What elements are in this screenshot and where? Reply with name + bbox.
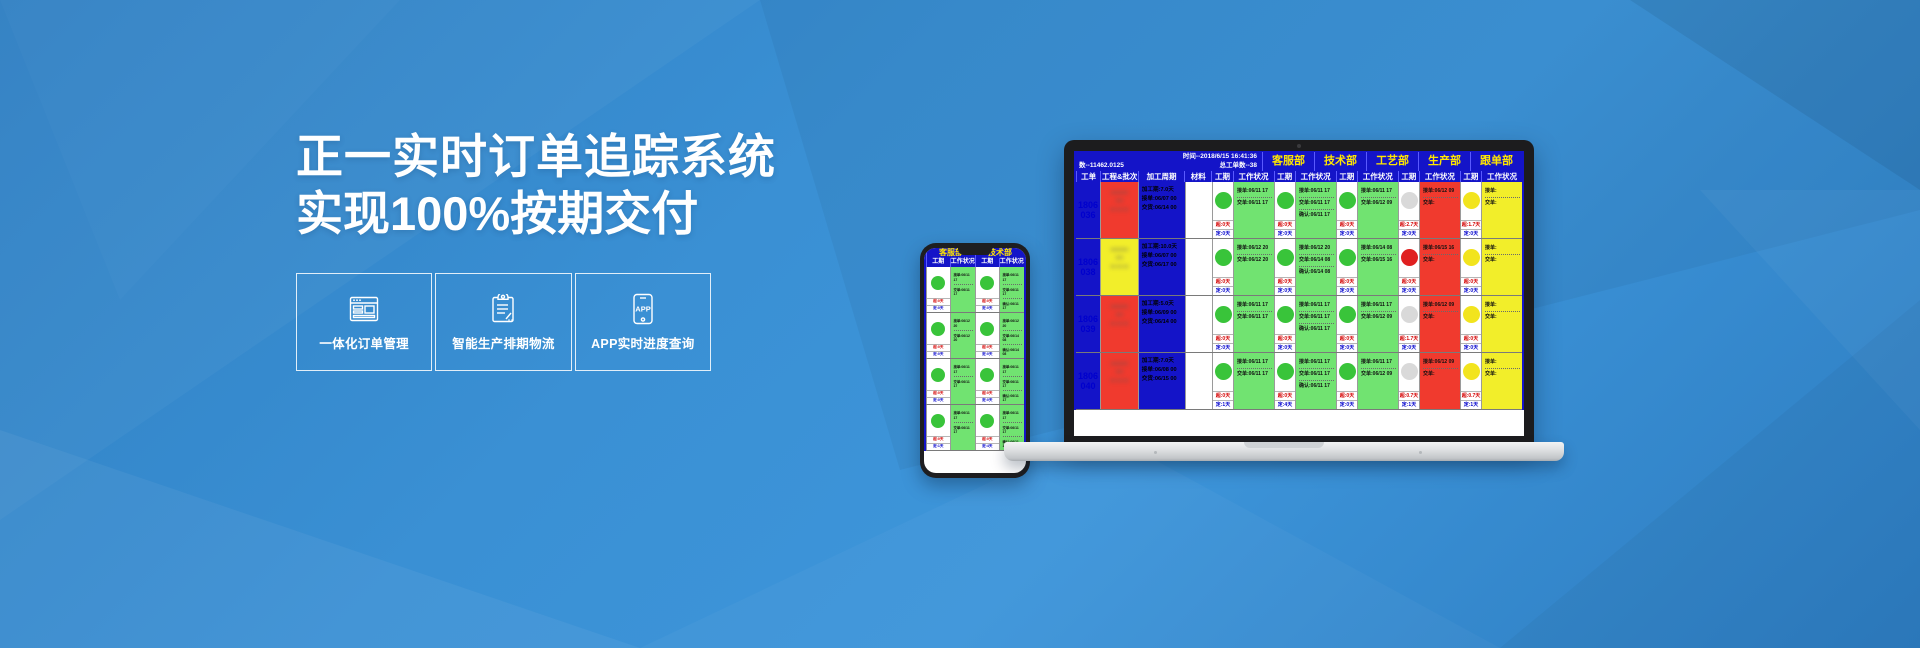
phone-notch [958, 248, 992, 255]
status-dot-icon [1401, 306, 1418, 323]
status-dot-icon [980, 368, 994, 382]
cell-duration-0[interactable]: 超:0天定:0天 [926, 313, 950, 358]
meta-total: 总工单数--38 [1219, 161, 1262, 170]
status-lines: 接单:06/15 16交单: [1420, 239, 1460, 266]
col-header-duration-3[interactable]: 工期 [1398, 171, 1419, 182]
hero-copy: 正一实时订单追踪系统 实现100%按期交付 一体化订单管理 [296, 128, 816, 371]
cell-work-order: 1806040 [1076, 353, 1100, 409]
meta-time: 时间--2018/6/15 16:41:36 [1183, 152, 1262, 161]
status-line: 接单: [1485, 357, 1520, 369]
status-line: 交单:06/11 17 [954, 285, 973, 298]
status-lines: 接单:06/12 20交单:06/12 20 [1234, 239, 1274, 266]
col-header-base-3[interactable]: 材料 [1184, 171, 1211, 182]
col-header-status-0[interactable]: 工作状况 [1233, 171, 1274, 182]
cell-project-batch: xxxxxxxxxxxx xx xx [1100, 182, 1138, 238]
status-lines: 接单:交单: [1482, 353, 1522, 380]
cell-processing-cycle: 加工期:7.0天接单:06/08 00交货:06/15 00 [1138, 353, 1185, 409]
laptop-base [1004, 442, 1564, 461]
cell-project-batch: xxxxxxxxxxxx xx xx [1100, 353, 1138, 409]
over-days-badge: 超:0天 [1213, 391, 1233, 400]
dept-header-1: 技术部 [1314, 152, 1366, 171]
status-line: 接单: [1485, 243, 1520, 255]
set-days-badge: 定:0天 [976, 397, 999, 404]
over-days-badge: 超:0天 [927, 344, 950, 351]
cell-duration-0[interactable]: 超:0天定:0天 [926, 267, 950, 312]
over-days-badge: 超:0天 [1213, 277, 1233, 286]
status-dot-icon [1401, 363, 1418, 380]
cell-work-status-4[interactable]: 接单:交单: [1481, 182, 1522, 238]
status-dot-icon [980, 276, 994, 290]
cell-work-status-3[interactable]: 接单:06/12 09交单: [1419, 353, 1460, 409]
status-line: 交单:06/11 17 [1299, 198, 1334, 210]
status-lines: 接单:06/11 17交单:06/12 09 [1358, 182, 1398, 209]
dashboard-body: 1806036xxxxxxxxxxxx xx xx加工期:7.0天接单:06/0… [1076, 182, 1522, 410]
cell-duration-4[interactable]: 超:0天定:0天 [1460, 239, 1481, 295]
status-lines: 接单:06/14 08交单:06/15 16 [1358, 239, 1398, 266]
col-header-base-2[interactable]: 加工周期 [1138, 171, 1184, 182]
project-batch-redacted: xxxxxxxxxxxx xx xx [1101, 296, 1138, 329]
set-days-badge: 定:0天 [1399, 343, 1419, 352]
over-days-badge: 超:0天 [1337, 220, 1357, 229]
status-line: 确认:06/11 17 [1299, 210, 1334, 221]
column-header-row: 工单工程&批次加工周期材料工期工作状况工期工作状况工期工作状况工期工作状况工期工… [1076, 171, 1522, 182]
status-lines: 接单:06/11 17交单:06/11 17 [951, 405, 975, 436]
status-line: 接单:06/11 17 [1237, 357, 1272, 369]
status-line: 交单:06/11 17 [1237, 312, 1272, 323]
cell-duration-0[interactable]: 超:0天定:0天 [1212, 296, 1233, 352]
cell-duration-4[interactable]: 超:0天定:0天 [1460, 296, 1481, 352]
status-line: 交单:06/11 17 [1237, 198, 1272, 209]
status-dot-icon [1215, 306, 1232, 323]
set-days-badge: 定:0天 [1275, 343, 1295, 352]
feature-list: 一体化订单管理 智能生产排期物流 [296, 273, 711, 371]
laptop-lid: 时间--2018/6/15 16:41:36数--11462.0125总工单数-… [1064, 140, 1534, 450]
headline-line-1: 正一实时订单追踪系统 [296, 128, 816, 185]
status-line: 交单:06/12 09 [1361, 312, 1396, 323]
over-days-badge: 超:0天 [976, 344, 999, 351]
cell-work-status-2[interactable]: 接单:06/14 08交单:06/15 16 [1357, 239, 1398, 295]
cell-duration-2[interactable]: 超:0天定:0天 [1336, 182, 1357, 238]
status-dot-icon [1339, 192, 1356, 209]
cell-work-status-0[interactable]: 接单:06/11 17交单:06/11 17 [950, 405, 975, 450]
project-batch-redacted: xxxxxxxxxxxx xx xx [1101, 353, 1138, 386]
window-layout-icon [349, 292, 379, 326]
cell-work-status-1[interactable]: 接单:06/11 17交单:06/11 17确认:06/11 17 [1295, 296, 1336, 352]
laptop-base-dot-left [1154, 451, 1157, 454]
dept-header-4: 跟单部 [1470, 152, 1522, 171]
cell-duration-4[interactable]: 超:1.7天定:0天 [1460, 182, 1481, 238]
cell-processing-cycle: 加工期:10.0天接单:06/07 00交货:06/17 00 [1138, 239, 1185, 295]
status-line: 交单:06/15 16 [1361, 255, 1396, 266]
col-header-duration-0[interactable]: 工期 [1211, 171, 1232, 182]
set-days-badge: 定:1天 [1461, 400, 1481, 409]
status-line: 接单:06/14 08 [1361, 243, 1396, 255]
status-line: 确认:06/11 17 [1299, 381, 1334, 392]
feature-box-order-management[interactable]: 一体化订单管理 [296, 273, 432, 371]
set-days-badge: 定:0天 [1337, 343, 1357, 352]
laptop-base-notch [1244, 442, 1324, 448]
dashboard-meta: 时间--2018/6/15 16:41:36数--11462.0125总工单数-… [1076, 152, 1262, 171]
cell-work-status-2[interactable]: 接单:06/11 17交单:06/12 09 [1357, 296, 1398, 352]
status-line: 接单:06/12 20 [1299, 243, 1334, 255]
status-dot-icon [1277, 192, 1294, 209]
cell-duration-3[interactable]: 超:1.7天定:0天 [1398, 296, 1419, 352]
cell-processing-cycle: 加工期:7.0天接单:06/07 00交货:06/14 00 [1138, 182, 1185, 238]
status-lines: 接单:06/11 17交单:06/11 17确认:06/11 17 [1296, 353, 1336, 392]
table-row[interactable]: 1806036xxxxxxxxxxxx xx xx加工期:7.0天接单:06/0… [1076, 182, 1522, 239]
status-lines: 接单:交单: [1482, 182, 1522, 209]
set-days-badge: 定:0天 [927, 397, 950, 404]
status-lines: 接单:06/12 09交单: [1420, 182, 1460, 209]
status-lines: 接单:06/12 20交单:06/12 20 [951, 313, 975, 344]
cell-duration-1[interactable]: 超:0天定:0天 [1274, 182, 1295, 238]
over-days-badge: 超:0天 [1399, 277, 1419, 286]
feature-label-production-scheduling: 智能生产排期物流 [452, 333, 554, 352]
over-days-badge: 超:0天 [976, 390, 999, 397]
dept-header-2: 工艺部 [1366, 152, 1418, 171]
cell-project-batch: xxxxxxxxxxxx xx xx [1100, 239, 1138, 295]
over-days-badge: 超:1.7天 [1461, 220, 1481, 229]
set-days-badge: 定:0天 [1275, 286, 1295, 295]
status-line: 交单:06/12 09 [1361, 198, 1396, 209]
status-dot-icon [1215, 363, 1232, 380]
cell-project-batch: xxxxxxxxxxxx xx xx [1100, 296, 1138, 352]
status-line: 接单:06/11 17 [954, 271, 973, 285]
status-line: 交单:06/12 20 [1237, 255, 1272, 266]
status-dot-icon [1215, 192, 1232, 209]
col-header-status-3[interactable]: 工作状况 [1419, 171, 1460, 182]
cell-material [1185, 296, 1212, 352]
set-days-badge: 定:4天 [976, 443, 999, 450]
status-line: 交单: [1423, 312, 1458, 323]
status-dot-icon [1339, 306, 1356, 323]
set-days-badge: 定:0天 [1213, 286, 1233, 295]
cell-material [1185, 239, 1212, 295]
status-line: 接单:06/12 20 [954, 317, 973, 331]
status-line: 确认:06/11 17 [1299, 324, 1334, 335]
status-lines: 接单:06/12 20交单:06/14 08确认:06/14 08 [1296, 239, 1336, 278]
set-days-badge: 定:0天 [1337, 229, 1357, 238]
over-days-badge: 超:0.7天 [1461, 391, 1481, 400]
cell-duration-1[interactable]: 超:0天定:0天 [1274, 239, 1295, 295]
status-line: 交单:06/11 17 [1299, 312, 1334, 324]
feature-box-app-progress[interactable]: APP APP实时进度查询 [575, 273, 711, 371]
set-days-badge: 定:0天 [1337, 286, 1357, 295]
cell-duration-1[interactable]: 超:0天定:4天 [975, 405, 999, 450]
app-badge-text: APP [635, 304, 650, 313]
cell-work-status-3[interactable]: 接单:06/12 09交单: [1419, 182, 1460, 238]
feature-box-production-scheduling[interactable]: 智能生产排期物流 [435, 273, 571, 371]
cell-work-order: 1806036 [1076, 182, 1100, 238]
status-line: 接单: [1485, 300, 1520, 312]
set-days-badge: 定:1天 [927, 443, 950, 450]
col-header-status-0[interactable]: 工作状况 [950, 258, 975, 267]
status-line: 接单:06/11 17 [1299, 186, 1334, 198]
over-days-badge: 超:0天 [927, 298, 950, 305]
over-days-badge: 超:0天 [1275, 220, 1295, 229]
cell-work-status-4[interactable]: 接单:交单: [1481, 296, 1522, 352]
over-days-badge: 超:0天 [1461, 334, 1481, 343]
feature-label-order-management: 一体化订单管理 [319, 333, 409, 352]
over-days-badge: 超:0天 [1337, 277, 1357, 286]
status-dot-icon [1463, 363, 1480, 380]
status-dot-icon [1339, 249, 1356, 266]
cell-duration-2[interactable]: 超:0天定:0天 [1336, 353, 1357, 409]
set-days-badge: 定:0天 [927, 351, 950, 358]
status-line: 交单:06/11 17 [1299, 369, 1334, 381]
status-dot-icon [1339, 363, 1356, 380]
status-dot-icon [1215, 249, 1232, 266]
over-days-badge: 超:0天 [1275, 391, 1295, 400]
over-days-badge: 超:0天 [1337, 391, 1357, 400]
status-line: 交单: [1423, 198, 1458, 209]
set-days-badge: 定:0天 [1461, 229, 1481, 238]
status-line: 接单:06/11 17 [1237, 186, 1272, 198]
over-days-badge: 超:1.7天 [1399, 334, 1419, 343]
status-line: 接单:06/12 09 [1423, 300, 1458, 312]
dept-header-0: 客服部 [1262, 152, 1314, 171]
status-line: 接单: [1485, 186, 1520, 198]
webcam-icon [1297, 144, 1301, 148]
set-days-badge: 定:0天 [1213, 343, 1233, 352]
col-header-duration-1[interactable]: 工期 [1274, 171, 1295, 182]
status-dot-icon [931, 276, 945, 290]
laptop-screen[interactable]: 时间--2018/6/15 16:41:36数--11462.0125总工单数-… [1074, 151, 1524, 436]
status-dot-icon [1277, 306, 1294, 323]
cell-duration-1[interactable]: 超:0天定:0天 [975, 359, 999, 404]
col-header-base-1[interactable]: 工程&批次 [1100, 171, 1138, 182]
status-dot-icon [980, 414, 994, 428]
status-line: 确认:06/14 08 [1299, 267, 1334, 278]
over-days-badge: 超:0天 [1213, 334, 1233, 343]
cell-duration-0[interactable]: 超:0天定:1天 [1212, 353, 1233, 409]
col-header-duration-2[interactable]: 工期 [1336, 171, 1357, 182]
set-days-badge: 定:0天 [1337, 400, 1357, 409]
cell-duration-1[interactable]: 超:0天定:4天 [1274, 353, 1295, 409]
set-days-badge: 定:1天 [1399, 400, 1419, 409]
status-line: 接单:06/11 17 [1361, 357, 1396, 369]
mobile-app-icon: APP [631, 292, 655, 326]
cell-work-status-3[interactable]: 接单:06/15 16交单: [1419, 239, 1460, 295]
status-line: 交单: [1485, 312, 1520, 323]
cell-duration-2[interactable]: 超:0天定:0天 [1336, 296, 1357, 352]
status-line: 接单:06/11 17 [954, 363, 973, 377]
over-days-badge: 超:0天 [927, 390, 950, 397]
cell-work-status-0[interactable]: 接单:06/12 20交单:06/12 20 [950, 313, 975, 358]
cell-material [1185, 182, 1212, 238]
col-header-duration-1[interactable]: 工期 [975, 258, 999, 267]
status-line: 交单: [1485, 255, 1520, 266]
status-dot-icon [1277, 363, 1294, 380]
status-line: 交单: [1485, 198, 1520, 209]
cell-work-status-0[interactable]: 接单:06/11 17交单:06/11 17 [950, 359, 975, 404]
status-line: 交单: [1423, 255, 1458, 266]
col-header-duration-4[interactable]: 工期 [1460, 171, 1481, 182]
page-title: 正一实时订单追踪系统 实现100%按期交付 [296, 128, 816, 243]
over-days-badge: 超:0天 [976, 298, 999, 305]
cell-work-order: 1806038 [1076, 239, 1100, 295]
feature-label-app-progress: APP实时进度查询 [591, 333, 694, 352]
status-dot-icon [980, 322, 994, 336]
cell-processing-cycle: 加工期:5.0天接单:06/09 00交货:06/14 00 [1138, 296, 1185, 352]
status-lines: 接单:交单: [1482, 239, 1522, 266]
status-line: 接单:06/11 17 [1237, 300, 1272, 312]
col-header-base-0[interactable]: 工单 [1076, 171, 1100, 182]
col-header-status-4[interactable]: 工作状况 [1481, 171, 1522, 182]
status-line: 交单:06/12 20 [954, 331, 973, 344]
cell-work-status-0[interactable]: 接单:06/12 20交单:06/12 20 [1233, 239, 1274, 295]
table-row[interactable]: 1806040xxxxxxxxxxxx xx xx加工期:7.0天接单:06/0… [1076, 353, 1522, 410]
col-header-duration-0[interactable]: 工期 [926, 258, 950, 267]
set-days-badge: 定:4天 [1275, 400, 1295, 409]
cell-duration-0[interactable]: 超:0天定:0天 [1212, 239, 1233, 295]
status-lines: 接单:06/11 17交单:06/11 17 [951, 359, 975, 390]
status-lines: 接单:06/11 17交单:06/11 17确认:06/11 17 [1296, 296, 1336, 335]
status-lines: 接单:06/12 09交单: [1420, 296, 1460, 323]
status-lines: 接单:06/11 17交单:06/11 17 [1234, 182, 1274, 209]
status-dot-icon [931, 414, 945, 428]
cell-duration-2[interactable]: 超:0天定:0天 [1336, 239, 1357, 295]
set-days-badge: 定:0天 [1461, 286, 1481, 295]
over-days-badge: 超:0天 [1275, 277, 1295, 286]
set-days-badge: 定:0天 [976, 351, 999, 358]
cell-duration-0[interactable]: 超:0天定:1天 [926, 405, 950, 450]
status-line: 交单:06/12 09 [1361, 369, 1396, 380]
order-tracking-dashboard[interactable]: 时间--2018/6/15 16:41:36数--11462.0125总工单数-… [1074, 151, 1524, 410]
cell-work-status-1[interactable]: 接单:06/11 17交单:06/11 17确认:06/11 17 [1295, 182, 1336, 238]
dashboard-topbar: 时间--2018/6/15 16:41:36数--11462.0125总工单数-… [1074, 151, 1524, 410]
status-dot-icon [931, 322, 945, 336]
over-days-badge: 超:0天 [976, 436, 999, 443]
status-lines: 接单:06/11 17交单:06/11 17 [1234, 296, 1274, 323]
meta-count: 数--11462.0125 [1079, 161, 1124, 170]
status-lines: 接单:06/11 17交单:06/11 17 [951, 267, 975, 298]
status-dot-icon [1401, 192, 1418, 209]
status-line: 接单:06/12 09 [1423, 357, 1458, 369]
set-days-badge: 定:0天 [927, 305, 950, 312]
status-line: 接单:06/11 17 [1299, 300, 1334, 312]
status-lines: 接单:06/11 17交单:06/11 17 [1234, 353, 1274, 380]
cell-duration-1[interactable]: 超:0天定:0天 [1274, 296, 1295, 352]
over-days-badge: 超:0天 [1337, 334, 1357, 343]
status-line: 交单: [1485, 369, 1520, 380]
cell-work-status-0[interactable]: 接单:06/11 17交单:06/11 17 [1233, 182, 1274, 238]
dept-header-3: 生产部 [1418, 152, 1470, 171]
cell-duration-3[interactable]: 超:0天定:0天 [1398, 239, 1419, 295]
cell-work-status-0[interactable]: 接单:06/11 17交单:06/11 17 [1233, 296, 1274, 352]
over-days-badge: 超:0天 [1275, 334, 1295, 343]
status-dot-icon [1463, 306, 1480, 323]
status-dot-icon [1463, 249, 1480, 266]
cell-work-status-4[interactable]: 接单:交单: [1481, 239, 1522, 295]
col-header-status-2[interactable]: 工作状况 [1357, 171, 1398, 182]
set-days-badge: 定:0天 [1399, 286, 1419, 295]
over-days-badge: 超:0.7天 [1399, 391, 1419, 400]
table-row[interactable]: 1806038xxxxxxxxxxxx xx xx加工期:10.0天接单:06/… [1076, 239, 1522, 296]
status-line: 接单:06/12 20 [1237, 243, 1272, 255]
clipboard-schedule-icon [489, 292, 517, 326]
status-lines: 接单:06/12 09交单: [1420, 353, 1460, 380]
status-dot-icon [1277, 249, 1294, 266]
set-days-badge: 定:0天 [976, 305, 999, 312]
status-lines: 接单:06/11 17交单:06/12 09 [1358, 353, 1398, 380]
cell-duration-3[interactable]: 超:2.7天定:0天 [1398, 182, 1419, 238]
cell-work-status-0[interactable]: 接单:06/11 17交单:06/11 17 [1233, 353, 1274, 409]
over-days-badge: 超:2.7天 [1399, 220, 1419, 229]
over-days-badge: 超:0天 [1213, 220, 1233, 229]
status-line: 接单:06/11 17 [954, 409, 973, 423]
status-line: 接单:06/12 09 [1423, 186, 1458, 198]
over-days-badge: 超:0天 [1461, 277, 1481, 286]
status-dot-icon [1463, 192, 1480, 209]
cell-work-status-4[interactable]: 接单:交单: [1481, 353, 1522, 409]
cell-duration-1[interactable]: 超:0天定:0天 [975, 313, 999, 358]
cell-work-status-1[interactable]: 接单:06/11 17交单:06/11 17确认:06/11 17 [1295, 353, 1336, 409]
status-line: 交单:06/11 17 [954, 423, 973, 436]
status-line: 交单:06/11 17 [1237, 369, 1272, 380]
laptop-base-dot-right [1419, 451, 1422, 454]
project-batch-redacted: xxxxxxxxxxxx xx xx [1101, 239, 1138, 272]
status-line: 交单: [1423, 369, 1458, 380]
cell-duration-0[interactable]: 超:0天定:0天 [926, 359, 950, 404]
status-lines: 接单:06/11 17交单:06/11 17确认:06/11 17 [1296, 182, 1336, 221]
set-days-badge: 定:0天 [1275, 229, 1295, 238]
set-days-badge: 定:0天 [1213, 229, 1233, 238]
status-line: 接单:06/11 17 [1361, 300, 1396, 312]
status-line: 接单:06/15 16 [1423, 243, 1458, 255]
cell-material [1185, 353, 1212, 409]
set-days-badge: 定:1天 [1213, 400, 1233, 409]
status-dot-icon [931, 368, 945, 382]
cell-duration-4[interactable]: 超:0.7天定:1天 [1460, 353, 1481, 409]
status-dot-icon [1401, 249, 1418, 266]
cell-work-status-2[interactable]: 接单:06/11 17交单:06/12 09 [1357, 182, 1398, 238]
status-line: 接单:06/11 17 [1361, 186, 1396, 198]
status-lines: 接单:交单: [1482, 296, 1522, 323]
over-days-badge: 超:0天 [927, 436, 950, 443]
cell-duration-1[interactable]: 超:0天定:0天 [975, 267, 999, 312]
status-line: 交单:06/11 17 [954, 377, 973, 390]
set-days-badge: 定:0天 [1399, 229, 1419, 238]
cell-work-order: 1806039 [1076, 296, 1100, 352]
cell-work-status-2[interactable]: 接单:06/11 17交单:06/12 09 [1357, 353, 1398, 409]
table-row[interactable]: 1806039xxxxxxxxxxxx xx xx加工期:5.0天接单:06/0… [1076, 296, 1522, 353]
cell-duration-3[interactable]: 超:0.7天定:1天 [1398, 353, 1419, 409]
cell-work-status-1[interactable]: 接单:06/12 20交单:06/14 08确认:06/14 08 [1295, 239, 1336, 295]
laptop-device: 时间--2018/6/15 16:41:36数--11462.0125总工单数-… [1004, 140, 1564, 488]
cell-work-status-0[interactable]: 接单:06/11 17交单:06/11 17 [950, 267, 975, 312]
cell-duration-0[interactable]: 超:0天定:0天 [1212, 182, 1233, 238]
project-batch-redacted: xxxxxxxxxxxx xx xx [1101, 182, 1138, 215]
status-lines: 接单:06/11 17交单:06/12 09 [1358, 296, 1398, 323]
col-header-status-1[interactable]: 工作状况 [1295, 171, 1336, 182]
status-line: 接单:06/11 17 [1299, 357, 1334, 369]
set-days-badge: 定:0天 [1461, 343, 1481, 352]
status-line: 交单:06/14 08 [1299, 255, 1334, 267]
cell-work-status-3[interactable]: 接单:06/12 09交单: [1419, 296, 1460, 352]
headline-line-2: 实现100%按期交付 [296, 185, 816, 242]
